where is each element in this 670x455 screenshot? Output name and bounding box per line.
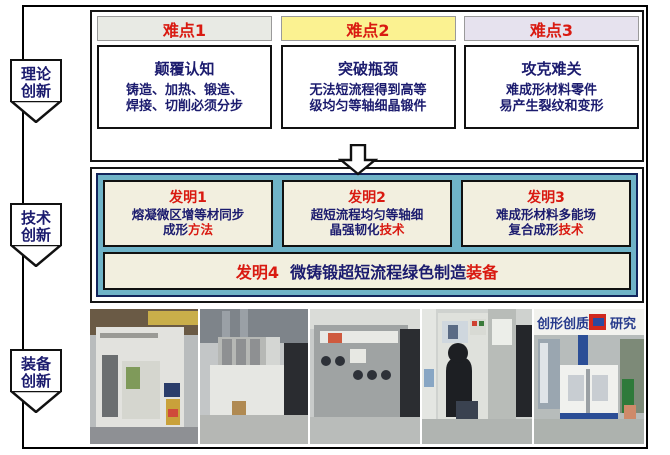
pain-point-column-3: 难点3 攻克难关 难成形材料零件 易产生裂纹和变形 [464,16,639,129]
pain-point-text-3-line2: 易产生裂纹和变形 [499,99,603,114]
pentagon-point-technology [10,245,62,267]
invention-text-1: 熔凝微区增等材同步 成形方法 [132,207,245,237]
stage-label-theory: 理论 创新 [7,59,65,123]
invention-4-body-highlight: 装备 [466,263,498,282]
equipment-photo-4 [422,309,532,444]
stage-label-equipment: 装备 创新 [7,349,65,413]
invention-text-3-line2-plain: 复合成形 [508,222,558,237]
invention-box-3: 发明3 难成形材料多能场 复合成形技术 [461,180,631,247]
pain-point-text-2: 无法短流程得到高等 级均匀等轴细晶锻件 [309,83,426,115]
stage-label-technology-line2: 创新 [12,227,60,244]
stage-label-theory-line2: 创新 [12,83,60,100]
stage-label-equipment-line1: 装备 [12,356,60,373]
invention-4-line: 发明4 微铸锻超短流程绿色制造装备 [236,259,498,283]
pain-point-title-3: 攻克难关 [521,60,581,78]
invention-text-3-line2-highlight: 技术 [558,222,583,237]
invention-box-2: 发明2 超短流程均匀等轴细 晶强韧化技术 [282,180,452,247]
invention-box-1: 发明1 熔凝微区增等材同步 成形方法 [103,180,273,247]
equipment-photo-1 [90,309,198,444]
pain-point-text-1-line2: 焊接、切削必须分步 [126,99,243,114]
equipment-photo-5: 创形创质 研究 [534,309,644,444]
pentagon-body-theory: 理论 创新 [10,59,62,102]
stage-label-technology-line1: 技术 [12,210,60,227]
invention-4-title: 发明4 [236,263,279,282]
pain-point-text-1-line1: 铸造、加热、锻造、 [126,83,243,98]
equipment-photo-3 [310,309,420,444]
pentagon-point-theory [10,101,62,123]
stage-label-technology: 技术 创新 [7,203,65,267]
invention-text-1-line1: 熔凝微区增等材同步 [132,207,245,222]
invention-title-3: 发明3 [527,190,565,206]
technology-inner-panel: 发明1 熔凝微区增等材同步 成形方法 发明2 超短流程均匀等轴细 晶强韧化技术 [96,173,638,297]
invention-box-4: 发明4 微铸锻超短流程绿色制造装备 [103,252,631,290]
pain-point-title-2: 突破瓶颈 [338,60,398,78]
stage-label-theory-line1: 理论 [12,66,60,83]
invention-text-2: 超短流程均匀等轴细 晶强韧化技术 [311,207,424,237]
invention-text-1-line2-highlight: 方法 [188,222,213,237]
pain-point-header-1: 难点1 [97,16,272,41]
pain-point-text-3-line1: 难成形材料零件 [506,83,597,98]
theory-innovation-block: 难点1 颠覆认知 铸造、加热、锻造、 焊接、切削必须分步 难点2 突破瓶颈 [90,10,644,162]
stage-label-equipment-line2: 创新 [12,373,60,390]
pain-point-text-2-line2: 级均匀等轴细晶锻件 [309,99,426,114]
pentagon-point-equipment [10,391,62,413]
pain-point-column-2: 难点2 突破瓶颈 无法短流程得到高等 级均匀等轴细晶锻件 [281,16,456,129]
content-area: 难点1 颠覆认知 铸造、加热、锻造、 焊接、切削必须分步 难点2 突破瓶颈 [90,7,646,447]
equipment-photo-2 [200,309,308,444]
pain-point-header-3: 难点3 [464,16,639,41]
invention-text-3-line1: 难成形材料多能场 [496,207,596,222]
invention-title-1: 发明1 [169,190,207,206]
svg-text:研究: 研究 [610,316,636,332]
pain-point-title-1: 颠覆认知 [154,60,214,78]
pain-point-text-3: 难成形材料零件 易产生裂纹和变形 [499,83,603,115]
pain-point-column-1: 难点1 颠覆认知 铸造、加热、锻造、 焊接、切削必须分步 [97,16,272,129]
invention-text-3: 难成形材料多能场 复合成形技术 [496,207,596,237]
invention-text-2-line1: 超短流程均匀等轴细 [311,207,424,222]
figure-frame: 理论 创新 技术 创新 装备 创新 [22,5,648,449]
invention-4-body-plain: 微铸锻超短流程绿色制造 [290,263,466,282]
technology-innovation-block: 发明1 熔凝微区增等材同步 成形方法 发明2 超短流程均匀等轴细 晶强韧化技术 [90,167,644,303]
invention-text-2-line2-plain: 晶强韧化 [329,222,379,237]
invention-text-2-line2-highlight: 技术 [379,222,404,237]
svg-text:创形创质: 创形创质 [536,316,589,332]
down-arrow-icon [338,144,378,176]
pentagon-body-technology: 技术 创新 [10,203,62,246]
invention-row: 发明1 熔凝微区增等材同步 成形方法 发明2 超短流程均匀等轴细 晶强韧化技术 [103,180,631,247]
equipment-photo-strip: 创形创质 研究 [90,309,644,444]
invention-text-1-line2-plain: 成形 [163,222,188,237]
invention-title-2: 发明2 [348,190,386,206]
pain-point-body-3: 攻克难关 难成形材料零件 易产生裂纹和变形 [464,45,639,129]
pain-point-body-1: 颠覆认知 铸造、加热、锻造、 焊接、切削必须分步 [97,45,272,129]
pain-point-text-2-line1: 无法短流程得到高等 [309,83,426,98]
pain-point-row: 难点1 颠覆认知 铸造、加热、锻造、 焊接、切削必须分步 难点2 突破瓶颈 [97,16,639,129]
pain-point-header-2: 难点2 [281,16,456,41]
pentagon-body-equipment: 装备 创新 [10,349,62,392]
pain-point-body-2: 突破瓶颈 无法短流程得到高等 级均匀等轴细晶锻件 [281,45,456,129]
pain-point-text-1: 铸造、加热、锻造、 焊接、切削必须分步 [126,83,243,115]
